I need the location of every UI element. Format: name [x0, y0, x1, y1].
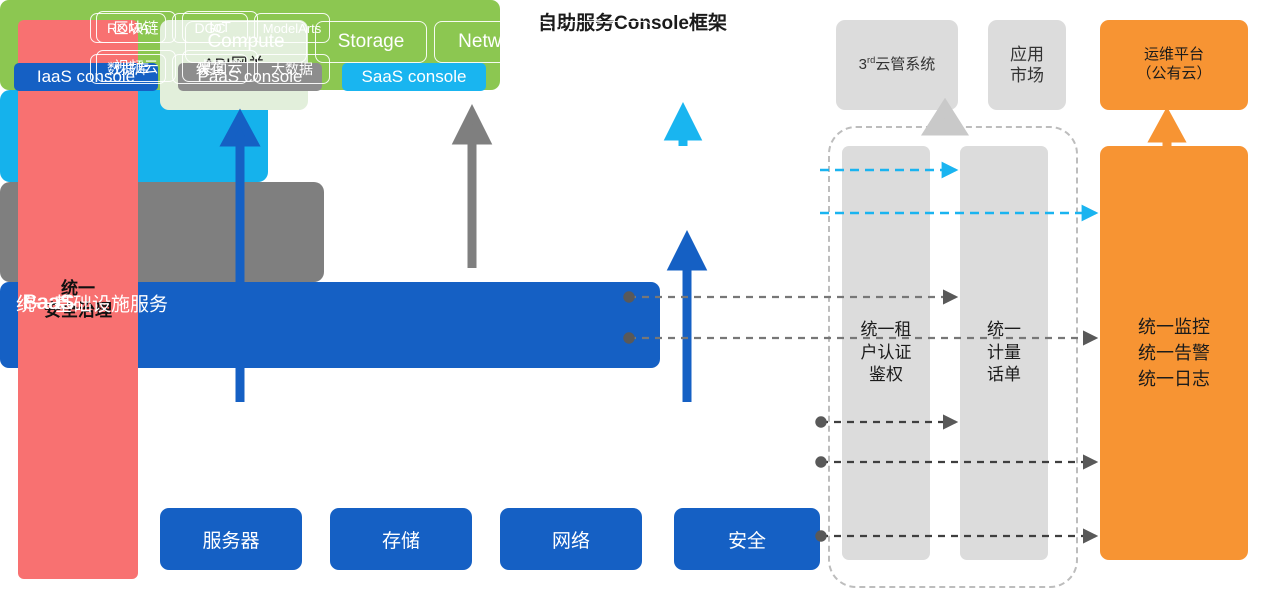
ops-platform-top-line1: 运维平台	[1136, 46, 1211, 65]
infra-chip-network[interactable]: Network	[434, 21, 552, 63]
resource-box-network-label: 网络	[552, 526, 590, 553]
unified-tenant-auth-column[interactable]: 统一租 户认证 鉴权	[842, 146, 930, 560]
app-market-line2: 市场	[1010, 65, 1044, 86]
saas-console-label: SaaS console	[362, 67, 467, 87]
saas-console-chip[interactable]: SaaS console	[342, 63, 486, 91]
ops-panel-line2: 统一告警	[1138, 340, 1210, 366]
resource-box-server-label: 服务器	[202, 526, 259, 553]
resource-box-storage[interactable]: 存储	[330, 508, 472, 570]
paas-chip-roma[interactable]: ROMA	[90, 13, 166, 43]
arrow-ops-panel-to-ops-platform	[1155, 116, 1179, 146]
resource-box-network[interactable]: 网络	[500, 508, 642, 570]
unified-metering-billing-column[interactable]: 统一 计量 话单	[960, 146, 1048, 560]
arrow-infra-to-saas	[674, 240, 700, 402]
infra-chip-compute[interactable]: Compute	[185, 21, 307, 63]
paas-chip-roma-label: ROMA	[107, 20, 149, 36]
infra-chip-storage[interactable]: Storage	[315, 21, 427, 63]
ops-platform-public-cloud-box[interactable]: 运维平台 （公有云）	[1100, 20, 1248, 110]
app-market-line1: 应用	[1010, 44, 1044, 65]
billing-line2: 计量	[987, 342, 1021, 365]
resource-box-security[interactable]: 安全	[674, 508, 820, 570]
third-cloud-rest: 云管系统	[875, 56, 935, 73]
third-cloud-label: 3rd云管系统	[859, 55, 936, 75]
ops-panel-line3: 统一日志	[1138, 366, 1210, 392]
third-party-cloud-management-box[interactable]: 3rd云管系统	[836, 20, 958, 110]
unified-ops-panel[interactable]: 统一监控 统一告警 统一日志	[1100, 146, 1248, 560]
billing-line3: 话单	[987, 364, 1021, 387]
resource-box-server[interactable]: 服务器	[160, 508, 302, 570]
ops-platform-top-line2: （公有云）	[1136, 65, 1211, 84]
resource-box-security-label: 安全	[728, 526, 766, 553]
paas-chip-database-label: 数据库	[107, 59, 149, 79]
arrow-saas-to-saas-console	[671, 112, 695, 146]
arrow-paas-to-console	[459, 114, 485, 268]
app-market-box[interactable]: 应用 市场	[988, 20, 1066, 110]
third-cloud-prefix: 3	[859, 56, 867, 73]
auth-line3: 鉴权	[861, 364, 912, 387]
infra-chip-cce[interactable]: CCE	[560, 21, 652, 63]
architecture-diagram: 统一 安全治理 API网关 自助服务Console框架 IaaS console…	[0, 0, 1265, 605]
ops-panel-line1: 统一监控	[1138, 314, 1210, 340]
infrastructure-label: 统一基础设施服务	[16, 289, 168, 316]
infra-chip-compute-label: Compute	[207, 31, 284, 53]
infra-chip-storage-label: Storage	[338, 31, 405, 53]
auth-line2: 户认证	[861, 342, 912, 365]
paas-chip-database[interactable]: 数据库	[90, 54, 166, 84]
billing-line1: 统一	[987, 319, 1021, 342]
auth-line1: 统一租	[861, 319, 912, 342]
infra-chip-cce-label: CCE	[586, 31, 626, 53]
resource-box-storage-label: 存储	[382, 526, 420, 553]
infra-chip-network-label: Network	[458, 31, 528, 53]
